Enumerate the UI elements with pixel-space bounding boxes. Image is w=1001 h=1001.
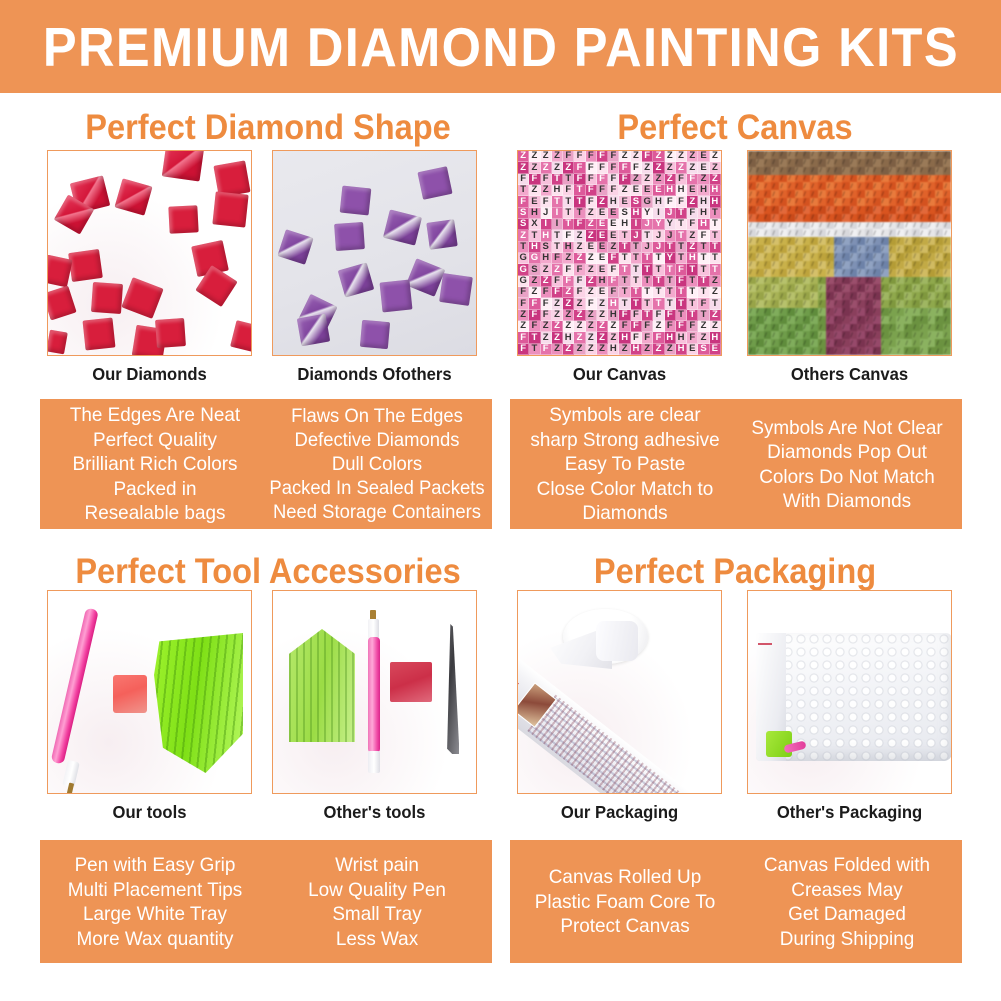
symbol-cell: F xyxy=(541,287,552,298)
pixel-cell xyxy=(771,269,779,277)
pixel-cell xyxy=(881,347,889,355)
pixel-cell xyxy=(904,292,912,300)
pixel-cell xyxy=(787,284,795,292)
pixel-cell xyxy=(764,324,772,332)
symbol-cell: Z xyxy=(710,287,721,298)
symbol-cell: E xyxy=(597,242,608,253)
pixel-cell xyxy=(865,292,873,300)
pixel-cell xyxy=(865,253,873,261)
pixel-cell xyxy=(873,229,881,237)
symbol-cell: F xyxy=(574,264,585,275)
symbol-cell: T xyxy=(552,174,563,185)
symbol-cell: I xyxy=(552,208,563,219)
pixel-cell xyxy=(873,206,881,214)
caption-diamonds-ofothers: Diamonds Ofothers xyxy=(277,364,472,385)
pixel-cell xyxy=(795,253,803,261)
pixel-cell xyxy=(850,261,858,269)
pixel-cell xyxy=(881,324,889,332)
pixel-cell xyxy=(943,339,951,347)
pixel-cell xyxy=(834,339,842,347)
symbol-cell: H xyxy=(676,344,687,355)
panel-line: Plastic Foam Core To xyxy=(535,890,715,915)
pixel-cell xyxy=(834,175,842,183)
symbol-cell: F xyxy=(574,174,585,185)
pixel-cell xyxy=(850,151,858,159)
symbol-cell: T xyxy=(710,242,721,253)
compare-panel-tool-accessories: Pen with Easy Grip Multi Placement Tips … xyxy=(40,840,492,963)
pixel-cell xyxy=(787,253,795,261)
pixel-cell xyxy=(818,300,826,308)
pixel-cell xyxy=(803,182,811,190)
symbol-cell: Z xyxy=(552,151,563,162)
symbol-cell: F xyxy=(608,151,619,162)
symbol-cell: H xyxy=(698,219,709,230)
pixel-cell xyxy=(935,253,943,261)
pixel-cell xyxy=(826,324,834,332)
pixel-cell xyxy=(834,324,842,332)
pixel-cell xyxy=(764,222,772,230)
pixel-cell xyxy=(771,324,779,332)
pixel-cell xyxy=(803,300,811,308)
pixel-cell xyxy=(818,316,826,324)
pixel-cell xyxy=(943,198,951,206)
page-title: PREMIUM DIAMOND PAINTING KITS xyxy=(42,15,958,79)
symbol-cell: Z xyxy=(541,264,552,275)
pixel-cell xyxy=(943,151,951,159)
pixel-cell xyxy=(896,284,904,292)
pixel-cell xyxy=(904,229,912,237)
pixel-cell xyxy=(881,316,889,324)
pixel-cell xyxy=(764,245,772,253)
caption-others-canvas: Others Canvas xyxy=(752,364,947,385)
pixel-cell xyxy=(920,308,928,316)
pixel-cell xyxy=(943,308,951,316)
symbol-cell: F xyxy=(642,321,653,332)
symbol-cell: F xyxy=(608,264,619,275)
pixel-cell xyxy=(826,253,834,261)
pixel-cell xyxy=(834,316,842,324)
pixel-cell xyxy=(826,190,834,198)
symbol-cell: T xyxy=(676,230,687,241)
panel-line: Colors Do Not Match xyxy=(759,465,935,490)
symbol-cell: Z xyxy=(676,162,687,173)
pixel-cell xyxy=(935,198,943,206)
symbol-cell: T xyxy=(676,287,687,298)
pixel-cell xyxy=(865,261,873,269)
pixel-cell xyxy=(787,159,795,167)
pixel-cell xyxy=(873,292,881,300)
symbol-cell: J xyxy=(653,230,664,241)
symbol-cell: T xyxy=(642,287,653,298)
pixel-cell xyxy=(943,284,951,292)
symbol-cell: I xyxy=(552,219,563,230)
pixel-cell xyxy=(779,182,787,190)
symbol-cell: Z xyxy=(518,310,529,321)
pixel-cell xyxy=(881,277,889,285)
pixel-cell xyxy=(943,253,951,261)
symbol-cell: Z xyxy=(574,253,585,264)
pixel-cell xyxy=(834,229,842,237)
pixel-cell xyxy=(857,331,865,339)
symbol-cell: F xyxy=(676,321,687,332)
symbol-cell: T xyxy=(665,287,676,298)
pixel-cell xyxy=(889,175,897,183)
symbol-cell: T xyxy=(518,242,529,253)
pixel-cell xyxy=(771,292,779,300)
pixel-cell xyxy=(810,159,818,167)
pixel-cell xyxy=(873,269,881,277)
pixel-cell xyxy=(857,214,865,222)
pixel-cell xyxy=(756,347,764,355)
symbol-cell: H xyxy=(665,185,676,196)
pixel-cell xyxy=(889,308,897,316)
symbol-cell: J xyxy=(642,242,653,253)
pixel-cell xyxy=(842,229,850,237)
pixel-cell xyxy=(935,245,943,253)
pixel-cell xyxy=(795,277,803,285)
pixel-cell xyxy=(889,237,897,245)
pixel-cell xyxy=(787,222,795,230)
pixel-cell xyxy=(865,159,873,167)
pixel-cell xyxy=(803,151,811,159)
symbol-cell: T xyxy=(653,253,664,264)
symbol-cell: F xyxy=(653,332,664,343)
pixel-cell xyxy=(764,261,772,269)
symbol-cell: Z xyxy=(574,321,585,332)
symbol-cell: H xyxy=(529,208,540,219)
pixel-cell xyxy=(920,206,928,214)
pixel-cell xyxy=(889,253,897,261)
pixel-cell xyxy=(748,347,756,355)
symbol-cell: T xyxy=(710,208,721,219)
pixel-cell xyxy=(881,182,889,190)
pixel-cell xyxy=(920,222,928,230)
pixel-cell xyxy=(803,167,811,175)
pixel-cell xyxy=(764,182,772,190)
pixel-cell xyxy=(834,284,842,292)
pixel-cell xyxy=(818,331,826,339)
pixel-cell xyxy=(842,159,850,167)
pixel-cell xyxy=(865,277,873,285)
symbol-cell: H xyxy=(687,253,698,264)
symbol-cell: Z xyxy=(710,174,721,185)
pixel-cell xyxy=(810,308,818,316)
pixel-cell xyxy=(795,175,803,183)
panel-col-theirs: Flaws On The Edges Defective Diamonds Du… xyxy=(269,408,484,521)
pixel-cell xyxy=(834,292,842,300)
pixel-cell xyxy=(896,292,904,300)
pixel-cell xyxy=(943,316,951,324)
caption-others-tools: Other's tools xyxy=(277,802,472,823)
pixel-cell xyxy=(943,214,951,222)
pixel-cell xyxy=(834,159,842,167)
photo-our-packaging: SS-021 xyxy=(517,590,722,794)
pixel-cell xyxy=(787,269,795,277)
pixel-cell xyxy=(803,245,811,253)
pixel-cell xyxy=(764,331,772,339)
symbol-cell: Y xyxy=(665,219,676,230)
pixel-cell xyxy=(896,331,904,339)
symbol-cell: J xyxy=(541,208,552,219)
pixel-cell xyxy=(842,331,850,339)
pixel-cell xyxy=(857,277,865,285)
pixel-cell xyxy=(889,277,897,285)
pixel-cell xyxy=(904,222,912,230)
pixel-cell xyxy=(857,347,865,355)
symbol-cell: Z xyxy=(552,344,563,355)
symbol-cell: T xyxy=(698,310,709,321)
pixel-cell xyxy=(771,151,779,159)
pixel-cell xyxy=(826,331,834,339)
pixel-cell xyxy=(943,206,951,214)
symbol-cell: H xyxy=(631,208,642,219)
pixel-cell xyxy=(943,292,951,300)
pixel-cell xyxy=(857,292,865,300)
pixel-cell xyxy=(779,300,787,308)
pixel-cell xyxy=(779,159,787,167)
pixel-cell xyxy=(881,284,889,292)
pixel-cell xyxy=(873,339,881,347)
symbol-cell: F xyxy=(586,162,597,173)
pixel-cell xyxy=(912,347,920,355)
pixel-cell xyxy=(873,151,881,159)
pixel-cell xyxy=(771,206,779,214)
pixel-cell xyxy=(803,292,811,300)
pixel-cell xyxy=(764,151,772,159)
pixel-cell xyxy=(748,269,756,277)
pixel-cell xyxy=(764,292,772,300)
symbol-cell: T xyxy=(665,298,676,309)
symbol-cell: Z xyxy=(586,219,597,230)
panel-col-theirs: Wrist pain Low Quality Pen Small Tray Le… xyxy=(269,849,484,955)
symbol-cell: F xyxy=(518,344,529,355)
symbol-cell: Z xyxy=(563,253,574,264)
pixel-cell xyxy=(865,324,873,332)
pixel-cell xyxy=(904,198,912,206)
pixel-cell xyxy=(857,151,865,159)
symbol-cell: T xyxy=(642,276,653,287)
panel-col-ours: Canvas Rolled Up Plastic Foam Core To Pr… xyxy=(517,849,732,955)
symbol-cell: Z xyxy=(710,162,721,173)
pixel-cell xyxy=(779,175,787,183)
pixel-cell xyxy=(881,190,889,198)
symbol-cell: F xyxy=(631,321,642,332)
pixel-cell xyxy=(904,316,912,324)
symbol-cell: Z xyxy=(529,162,540,173)
symbol-cell: Z xyxy=(552,321,563,332)
symbol-cell: Z xyxy=(597,196,608,207)
pixel-cell xyxy=(756,339,764,347)
pixel-cell xyxy=(834,300,842,308)
symbol-cell: F xyxy=(608,287,619,298)
symbol-cell: T xyxy=(619,242,630,253)
pixel-cell xyxy=(896,151,904,159)
pixel-cell xyxy=(803,229,811,237)
pixel-cell xyxy=(764,269,772,277)
pixel-cell xyxy=(787,151,795,159)
pixel-cell xyxy=(795,245,803,253)
section-heading-packaging: Perfect Packaging xyxy=(525,552,945,592)
pixel-cell xyxy=(818,198,826,206)
pixel-cell xyxy=(857,159,865,167)
pixel-cell xyxy=(810,214,818,222)
symbol-cell: E xyxy=(608,208,619,219)
panel-line: Wrist pain xyxy=(335,853,419,878)
pixel-cell xyxy=(810,277,818,285)
pixel-cell xyxy=(787,245,795,253)
pixel-cell xyxy=(904,214,912,222)
pixel-cell xyxy=(818,253,826,261)
symbol-cell: T xyxy=(619,287,630,298)
panel-line: Need Storage Containers xyxy=(273,501,481,525)
pixel-cell xyxy=(935,269,943,277)
symbol-cell: F xyxy=(574,276,585,287)
pixel-cell xyxy=(857,324,865,332)
pixel-cell xyxy=(935,284,943,292)
symbol-cell: T xyxy=(552,196,563,207)
pixel-cell xyxy=(943,277,951,285)
pixel-cell xyxy=(928,277,936,285)
symbol-cell: F xyxy=(665,321,676,332)
pixel-cell xyxy=(881,261,889,269)
pixel-cell xyxy=(787,214,795,222)
symbol-cell: Z xyxy=(552,298,563,309)
symbol-cell: F xyxy=(552,253,563,264)
pixel-cell xyxy=(896,214,904,222)
symbol-cell: F xyxy=(619,321,630,332)
pixel-cell xyxy=(795,261,803,269)
symbol-cell: T xyxy=(710,253,721,264)
pixel-cell xyxy=(850,339,858,347)
panel-line: Pen with Easy Grip xyxy=(75,853,236,878)
pixel-cell xyxy=(803,308,811,316)
symbol-cell: G xyxy=(518,264,529,275)
symbol-cell: T xyxy=(698,287,709,298)
symbol-cell: T xyxy=(687,264,698,275)
pixel-cell xyxy=(850,167,858,175)
pixel-cell xyxy=(896,253,904,261)
pixel-cell xyxy=(764,316,772,324)
pixel-cell xyxy=(865,182,873,190)
pen-tip-ferrule xyxy=(368,619,379,639)
symbol-cell: Z xyxy=(518,230,529,241)
pixel-cell xyxy=(857,269,865,277)
symbol-cell: F xyxy=(552,276,563,287)
pixel-cell xyxy=(873,245,881,253)
pixel-cell xyxy=(818,324,826,332)
pixel-cell xyxy=(756,198,764,206)
pixel-cell xyxy=(857,190,865,198)
panel-col-theirs: Symbols Are Not Clear Diamonds Pop Out C… xyxy=(739,408,954,521)
pixel-cell xyxy=(912,167,920,175)
symbol-cell: H xyxy=(710,196,721,207)
pixel-cell xyxy=(787,198,795,206)
pixel-cell xyxy=(795,222,803,230)
symbol-cell: E xyxy=(631,185,642,196)
pixel-cell xyxy=(943,167,951,175)
pixel-cell xyxy=(889,316,897,324)
pixel-cell xyxy=(881,245,889,253)
pixel-cell xyxy=(943,324,951,332)
pixel-cell xyxy=(896,339,904,347)
pixel-cell xyxy=(873,324,881,332)
symbol-cell: T xyxy=(529,230,540,241)
pixel-cell xyxy=(826,269,834,277)
pixel-cell xyxy=(803,316,811,324)
symbol-cell: T xyxy=(676,219,687,230)
pixel-cell xyxy=(771,284,779,292)
pixel-cell xyxy=(850,222,858,230)
symbol-cell: S xyxy=(518,208,529,219)
pixel-cell xyxy=(826,198,834,206)
pixel-cell xyxy=(842,269,850,277)
pixel-cell xyxy=(771,253,779,261)
pixel-cell xyxy=(748,261,756,269)
symbol-cell: F xyxy=(619,174,630,185)
tube-cap-neck xyxy=(596,621,638,661)
pixel-cell xyxy=(779,284,787,292)
symbol-cell: T xyxy=(710,298,721,309)
pixel-cell xyxy=(912,316,920,324)
symbol-cell: F xyxy=(574,162,585,173)
symbol-cell: T xyxy=(653,276,664,287)
symbol-cell: F xyxy=(698,230,709,241)
symbol-cell: F xyxy=(518,174,529,185)
pixel-cell xyxy=(826,300,834,308)
panel-line: The Edges Are Neat xyxy=(70,403,240,428)
pixel-cell xyxy=(928,269,936,277)
pixel-cell xyxy=(873,198,881,206)
pixel-cell xyxy=(756,300,764,308)
symbol-cell: Z xyxy=(642,344,653,355)
pixel-cell xyxy=(889,214,897,222)
pixel-cell xyxy=(920,277,928,285)
pixel-cell xyxy=(857,245,865,253)
pixel-cell xyxy=(810,331,818,339)
pixel-cell xyxy=(912,198,920,206)
pixel-cell xyxy=(748,159,756,167)
symbol-cell: E xyxy=(687,344,698,355)
symbol-cell: Z xyxy=(529,151,540,162)
symbol-cell: F xyxy=(642,332,653,343)
pixel-cell xyxy=(834,222,842,230)
pixel-cell xyxy=(943,222,951,230)
pixel-cell xyxy=(896,167,904,175)
pixel-cell xyxy=(826,182,834,190)
symbol-cell: G xyxy=(529,253,540,264)
symbol-cell: T xyxy=(676,310,687,321)
pixel-cell xyxy=(928,261,936,269)
pixel-cell xyxy=(771,339,779,347)
pixel-cell xyxy=(748,237,756,245)
symbol-cell: F xyxy=(698,298,709,309)
pixel-cell xyxy=(787,292,795,300)
symbol-cell: Z xyxy=(710,151,721,162)
symbol-cell: H xyxy=(619,332,630,343)
symbol-cell: H xyxy=(608,344,619,355)
panel-line: Less Wax xyxy=(336,927,418,952)
pixel-cell xyxy=(810,339,818,347)
pixel-cell xyxy=(795,190,803,198)
pixel-cell xyxy=(795,300,803,308)
caption-our-tools: Our tools xyxy=(52,802,247,823)
pixel-cell xyxy=(873,214,881,222)
pixel-cell xyxy=(881,300,889,308)
panel-line: Perfect Quality xyxy=(93,428,217,453)
pixel-cell xyxy=(935,300,943,308)
pixel-cell xyxy=(826,277,834,285)
pixel-cell xyxy=(928,222,936,230)
